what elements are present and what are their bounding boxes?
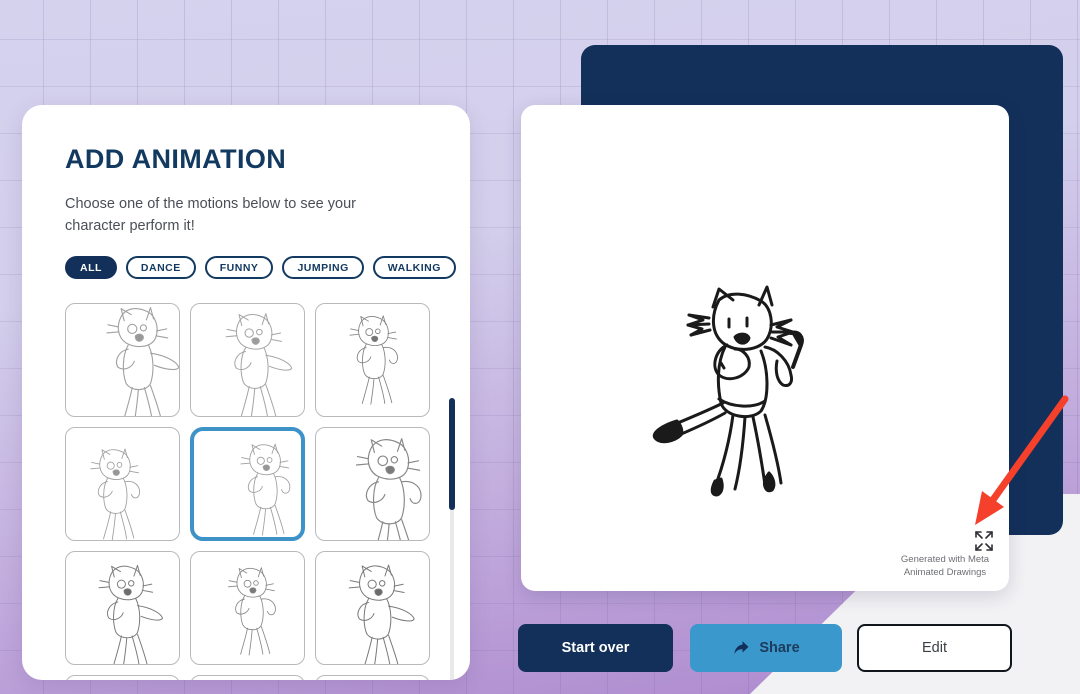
filter-pill-all[interactable]: ALL	[65, 256, 117, 279]
animation-thumb-3[interactable]	[315, 303, 430, 417]
app-stage: ADD ANIMATION Choose one of the motions …	[0, 0, 1080, 694]
generated-credit: Generated with Meta Animated Drawings	[880, 554, 1010, 580]
preview-canvas	[521, 105, 1009, 591]
add-animation-panel: ADD ANIMATION Choose one of the motions …	[22, 105, 470, 680]
animation-thumb-10[interactable]	[65, 675, 180, 680]
animation-thumbnail-scroll[interactable]	[65, 303, 455, 680]
filter-pill-walking[interactable]: WALKING	[373, 256, 456, 279]
animation-thumb-4[interactable]	[65, 427, 180, 541]
panel-subtitle: Choose one of the motions below to see y…	[65, 193, 405, 238]
animation-thumb-8[interactable]	[190, 551, 305, 665]
credit-line-1: Generated with Meta	[880, 554, 1010, 567]
edit-button[interactable]: Edit	[857, 624, 1012, 672]
filter-pill-jumping[interactable]: JUMPING	[282, 256, 363, 279]
credit-line-2: Animated Drawings	[880, 567, 1010, 580]
animation-thumb-11[interactable]	[190, 675, 305, 680]
animation-thumb-9[interactable]	[315, 551, 430, 665]
animation-thumb-5[interactable]	[190, 427, 305, 541]
animation-thumb-6[interactable]	[315, 427, 430, 541]
fox-character-drawing	[641, 275, 841, 525]
scrollbar-thumb[interactable]	[449, 398, 455, 510]
share-arrow-icon	[732, 639, 750, 657]
animation-thumb-1[interactable]	[65, 303, 180, 417]
animation-thumb-12[interactable]	[315, 675, 430, 680]
start-over-button[interactable]: Start over	[518, 624, 673, 672]
animation-thumbnail-grid	[65, 303, 455, 680]
expand-fullscreen-icon[interactable]	[972, 529, 996, 553]
share-label: Share	[759, 640, 799, 656]
animation-thumb-2[interactable]	[190, 303, 305, 417]
filter-pill-funny[interactable]: FUNNY	[205, 256, 274, 279]
edit-label: Edit	[922, 640, 947, 656]
start-over-label: Start over	[562, 640, 630, 656]
page-title: ADD ANIMATION	[65, 144, 286, 175]
animation-thumb-7[interactable]	[65, 551, 180, 665]
share-button[interactable]: Share	[690, 624, 842, 672]
filter-pill-row: ALLDANCEFUNNYJUMPINGWALKING	[65, 256, 456, 279]
filter-pill-dance[interactable]: DANCE	[126, 256, 196, 279]
